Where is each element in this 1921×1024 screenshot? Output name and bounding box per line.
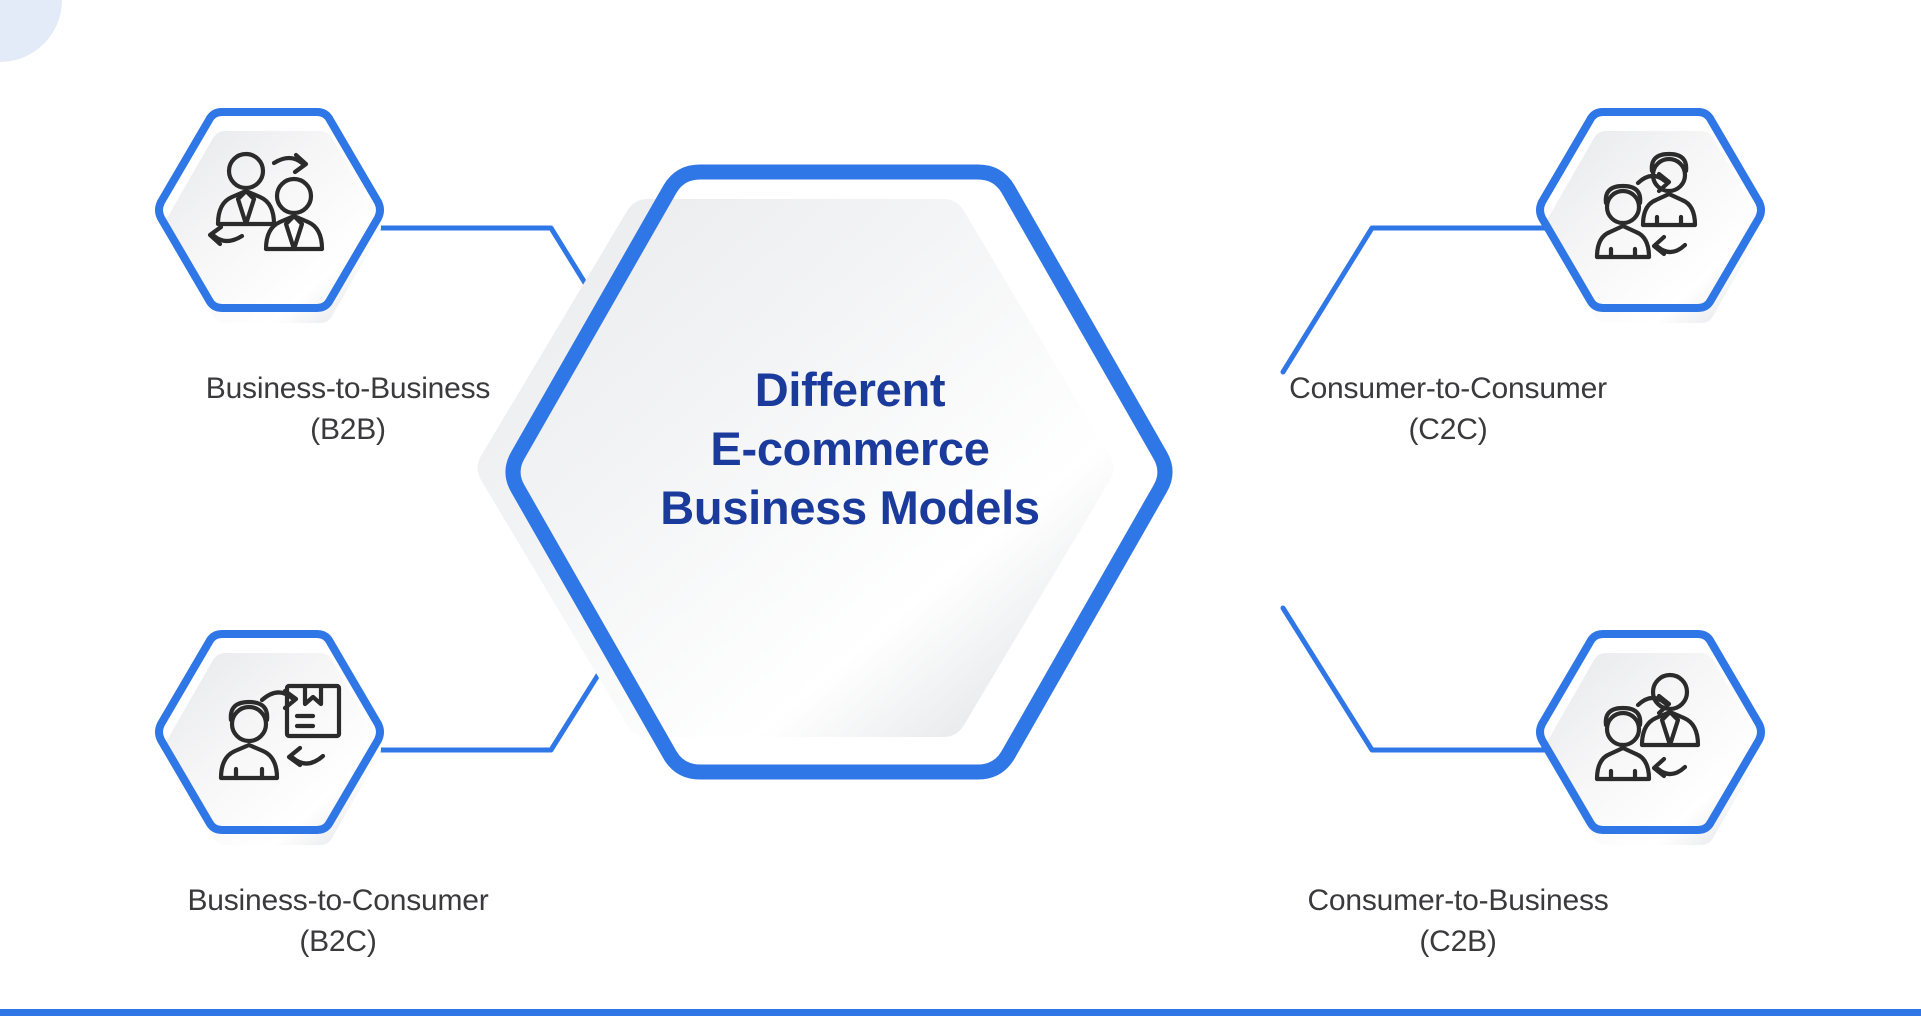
label-b2b: Business-to-Business (B2B) [38, 368, 658, 451]
hexagon-b2c-fill [164, 653, 381, 845]
hexagon-c2b[interactable] [1540, 634, 1762, 845]
hexagon-c2b-fill [1545, 653, 1762, 845]
hexagon-c2c[interactable] [1540, 112, 1762, 323]
hexagon-b2c[interactable] [159, 634, 381, 845]
label-c2c: Consumer-to-Consumer (C2C) [1118, 368, 1778, 451]
hexagon-b2b[interactable] [159, 112, 381, 323]
connector-c2b-to-center [1283, 608, 1552, 750]
label-c2b: Consumer-to-Business (C2B) [1128, 880, 1788, 963]
connector-c2c-to-center [1283, 228, 1552, 372]
label-b2c: Business-to-Consumer (B2C) [28, 880, 648, 963]
bottom-accent-rule [0, 1009, 1921, 1016]
diagram-canvas: Different E-commerce Business Models Bus… [0, 0, 1921, 1024]
center-title: Different E-commerce Business Models [640, 360, 1060, 538]
